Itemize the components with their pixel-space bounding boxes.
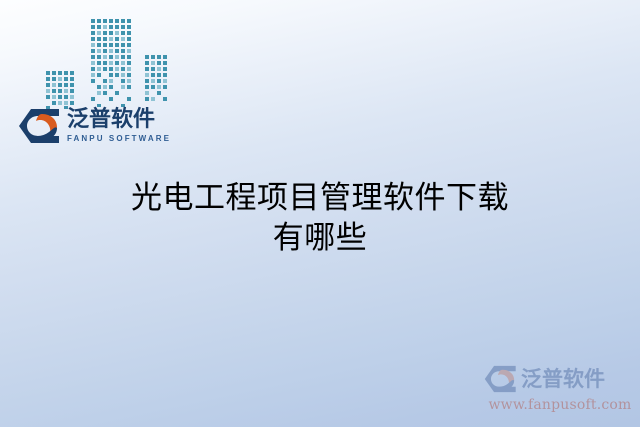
brand-wordmark: 泛普软件 FANPU SOFTWARE xyxy=(67,108,171,144)
watermark-logo: 泛普软件 xyxy=(484,362,636,396)
page-title: 光电工程项目管理软件下载 有哪些 xyxy=(0,178,640,258)
watermark: 泛普软件 www.fanpusoft.com xyxy=(484,362,636,420)
brand-logo: 泛普软件 FANPU SOFTWARE xyxy=(18,104,178,148)
watermark-brand-name: 泛普软件 xyxy=(521,368,605,391)
brand-name-cn: 泛普软件 xyxy=(67,108,171,132)
pixel-city-skyline xyxy=(44,14,174,110)
fanpu-watermark-mark-icon xyxy=(484,365,518,393)
watermark-url: www.fanpusoft.com xyxy=(484,396,636,414)
promo-banner: 泛普软件 FANPU SOFTWARE 光电工程项目管理软件下载 有哪些 泛普软… xyxy=(0,0,640,427)
fanpu-logo-mark-icon xyxy=(18,108,62,144)
brand-name-en: FANPU SOFTWARE xyxy=(67,133,171,144)
